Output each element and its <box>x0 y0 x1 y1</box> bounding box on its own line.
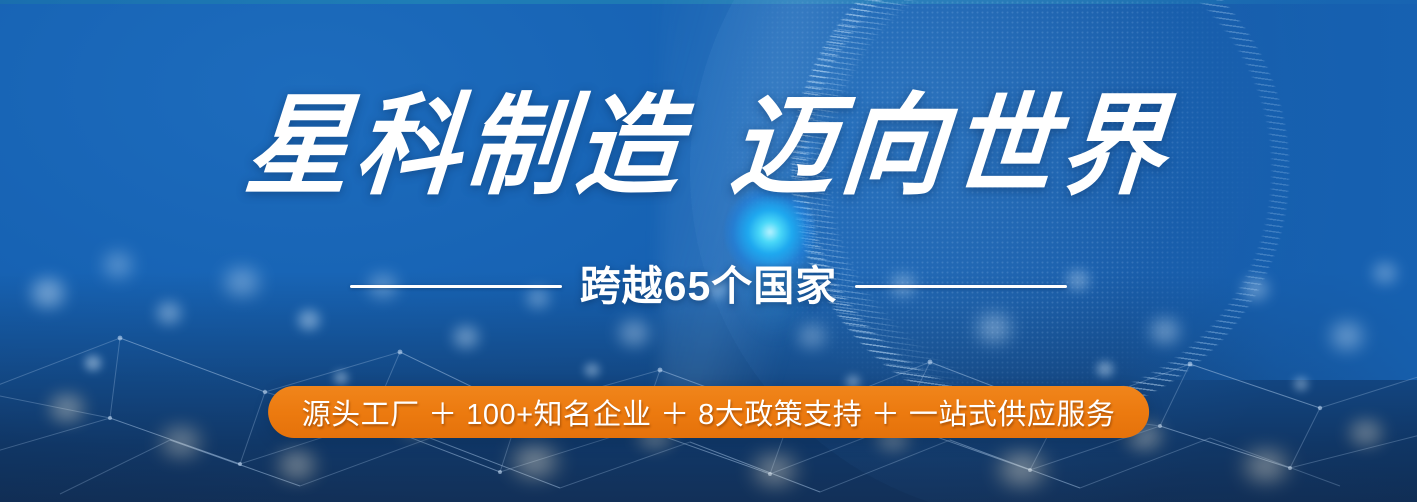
subtitle-row: 跨越65个国家 <box>0 266 1417 307</box>
banner-content: 星科制造 迈向世界 跨越65个国家 源头工厂 ＋ 100+知名企业 ＋ 8大政策… <box>0 0 1417 502</box>
benefits-pill[interactable]: 源头工厂 ＋ 100+知名企业 ＋ 8大政策支持 ＋ 一站式供应服务 <box>268 386 1150 438</box>
headline-part-2: 迈向世界 <box>726 93 1176 203</box>
subtitle-text: 跨越65个国家 <box>580 266 838 307</box>
benefits-pill-label: 源头工厂 ＋ 100+知名企业 ＋ 8大政策支持 ＋ 一站式供应服务 <box>302 391 1116 433</box>
rule-right <box>855 285 1067 288</box>
rule-left <box>350 285 562 288</box>
headline-part-1: 星科制造 <box>241 93 691 203</box>
headline: 星科制造 迈向世界 <box>0 96 1417 200</box>
promo-banner: 星科制造 迈向世界 跨越65个国家 源头工厂 ＋ 100+知名企业 ＋ 8大政策… <box>0 0 1417 502</box>
